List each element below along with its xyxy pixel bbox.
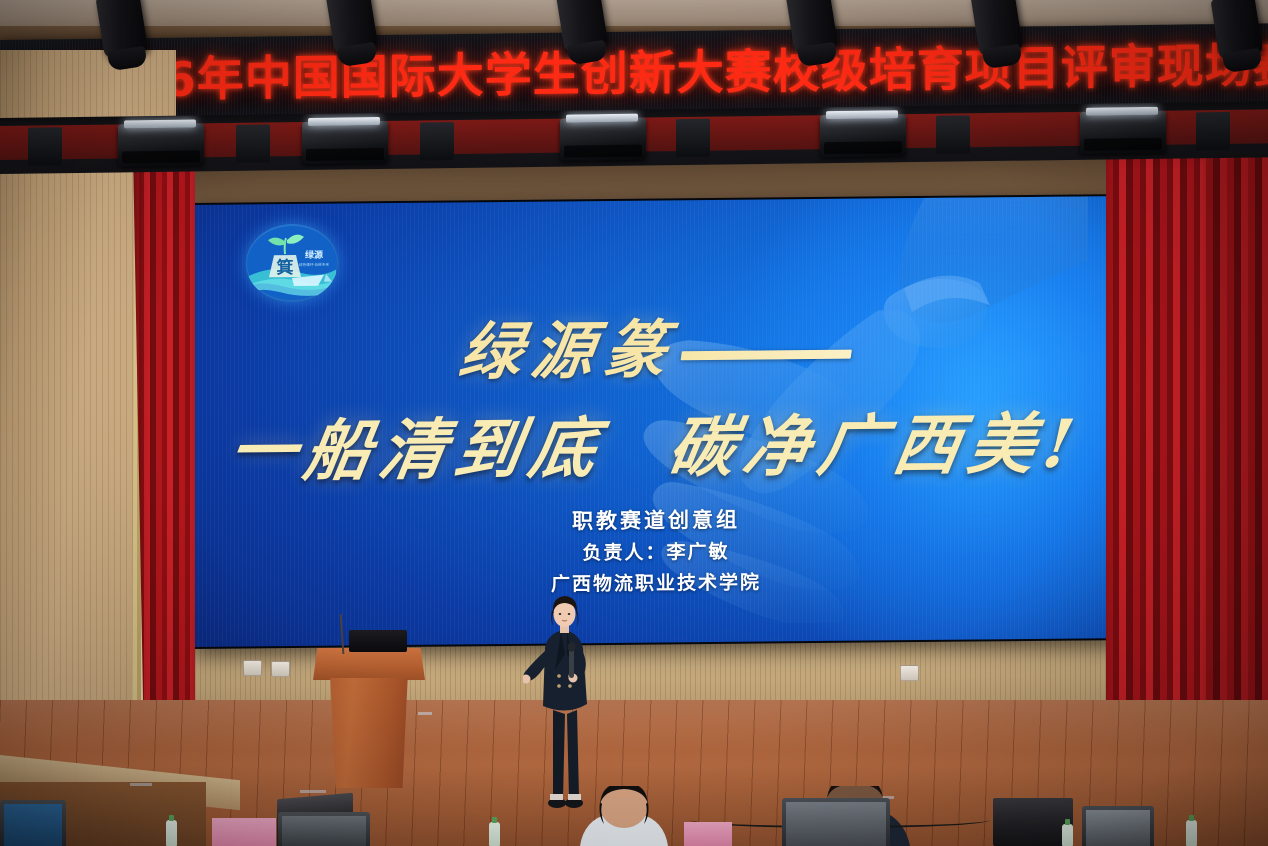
led-screen-frame: 箕 绿源 绿色循环·低碳未来 绿源篆 一船清到底 碳净广西美! 职教赛道创意组 … [192,194,1120,649]
floor-marker [418,712,432,715]
laptop-screen [4,804,62,846]
lectern-top [313,648,425,680]
par-light-icon [560,118,646,161]
svg-text:绿色循环·低碳未来: 绿色循环·低碳未来 [299,262,329,267]
water-bottle [489,822,500,846]
seated-attendee [578,786,670,846]
truss-bracket [236,124,270,162]
par-light-icon [1080,111,1166,154]
hanging-spotlight-icon [325,0,378,55]
presenter [523,592,605,814]
truss-bracket [676,119,710,157]
truss-bracket [1196,112,1230,150]
par-light-icon [820,114,906,157]
slide-title-text: 绿源篆 [455,313,681,388]
slide-title-secondary: 一船清到底 碳净广西美! [194,408,1118,487]
svg-text:箕: 箕 [277,257,294,278]
water-bottle [1062,824,1073,846]
water-bottle [166,820,177,846]
laptop [782,798,890,846]
truss-bracket [28,127,62,165]
floor-sheen [0,700,1268,750]
hanging-spotlight-icon [1210,0,1263,61]
wall-outlet [243,660,262,676]
auditorium-photo: 2026年中国国际大学生创新大赛校级培育项目评审现场赛 [0,0,1268,846]
truss-bracket [420,122,454,160]
laptop [1082,806,1154,846]
par-light-icon [302,121,388,164]
svg-text:绿源: 绿源 [305,249,323,261]
laptop [0,800,66,846]
name-card [684,822,732,846]
confidence-monitor [349,630,407,652]
laptop [278,812,370,846]
laptop-screen [1086,810,1150,846]
hanging-spotlight-icon [555,0,608,53]
par-light-icon [118,123,204,166]
wall-outlet [271,661,290,677]
lectern-body [325,678,413,788]
hanging-spotlight-icon [95,0,148,59]
laptop-screen [282,816,366,846]
presentation-screen: 箕 绿源 绿色循环·低碳未来 绿源篆 一船清到底 碳净广西美! 职教赛道创意组 … [194,196,1118,647]
slide-title-primary: 绿源篆 [194,314,1118,387]
floor-speaker [993,798,1073,846]
truss-bracket [936,115,970,153]
hanging-spotlight-icon [970,0,1023,57]
water-bottle [1186,820,1197,846]
name-card [212,818,276,846]
title-dash-icon [681,349,852,360]
lectern [313,648,425,788]
hanging-spotlight-icon [785,0,838,55]
laptop-screen [786,802,886,846]
foreground-row [0,786,1268,846]
wall-outlet [900,665,919,681]
